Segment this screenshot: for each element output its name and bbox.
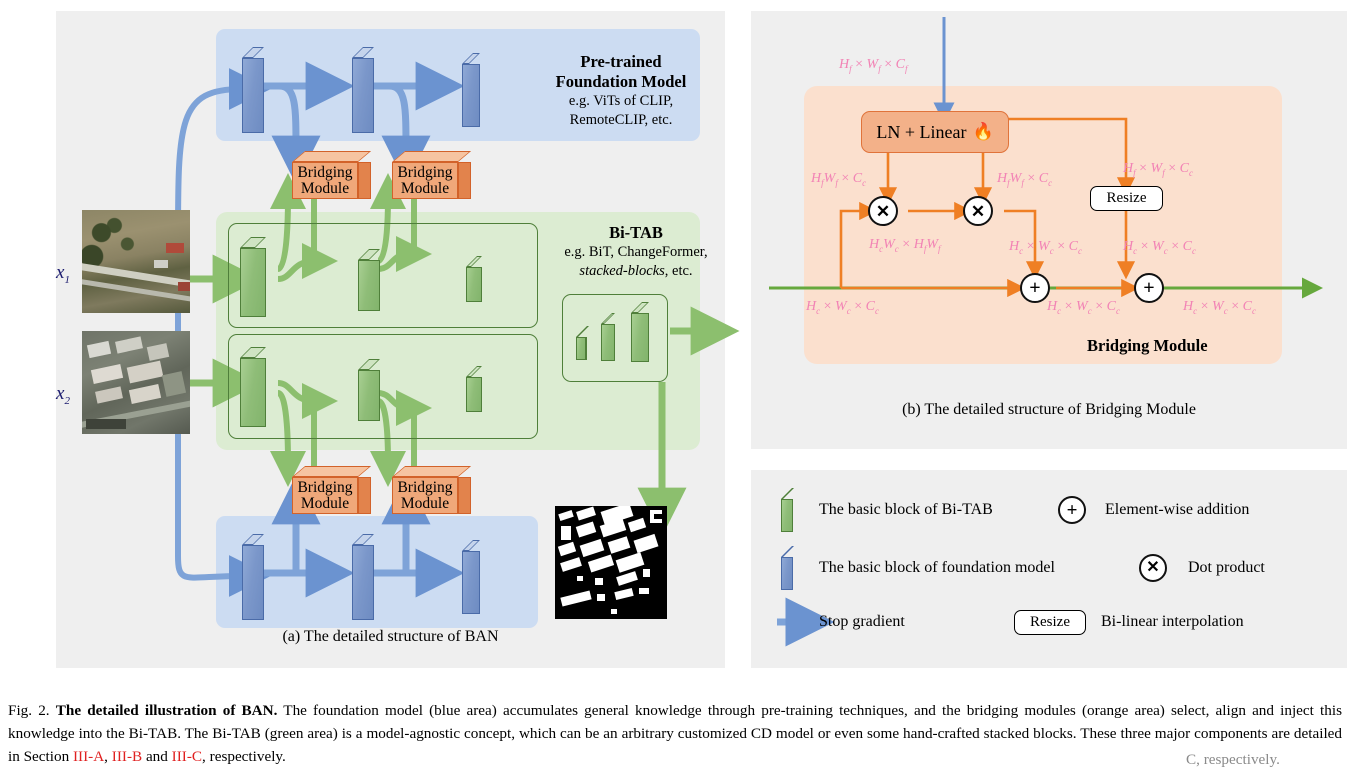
slab-top-face	[352, 534, 374, 545]
foundation-title-line2: Foundation Model	[536, 72, 706, 92]
bridging-module-top-right[interactable]: Bridging Module	[392, 151, 471, 199]
slab-front-face	[352, 58, 374, 133]
bridging-label-line1: Bridging	[397, 165, 452, 181]
ln-linear-block[interactable]: LN + Linear 🔥	[861, 111, 1009, 153]
box-top-face	[392, 151, 471, 162]
foundation-block-bottom-1	[242, 534, 264, 620]
ref-sep-2: and	[142, 748, 172, 765]
figure-caption: Fig. 2. The detailed illustration of BAN…	[8, 700, 1342, 768]
bitab-branch-top-outline	[228, 223, 538, 328]
bitab-block-top-3	[466, 256, 482, 302]
bitab-block-bottom-2	[358, 359, 380, 421]
resize-label: Resize	[1107, 190, 1147, 207]
bitab-branch-bottom-outline	[228, 334, 538, 439]
slab-front-face	[601, 324, 615, 361]
slab-front-face	[466, 377, 482, 412]
input-label-x1: x1	[56, 262, 70, 286]
shape-input-feature: Hf × Wf × Cf	[839, 57, 908, 74]
shape-attention-map: HcWc × HfWf	[869, 237, 941, 254]
panel-b-connectors	[751, 11, 1347, 449]
box-side-face	[358, 477, 371, 514]
resize-block[interactable]: Resize	[1090, 186, 1163, 211]
foundation-title-line1: Pre-trained	[536, 52, 706, 72]
fused-block-2	[601, 313, 615, 361]
caption-overlap-artifact: C, respectively.	[1186, 751, 1280, 769]
box-side-face	[458, 477, 471, 514]
foundation-block-top-1	[242, 47, 264, 133]
shape-add2-out: Hc × Wc × Cc	[1183, 299, 1256, 316]
input-x1-subscript: 1	[64, 274, 70, 286]
foundation-example-line2: RemoteCLIP, etc.	[536, 112, 706, 129]
slab-top-face	[240, 347, 266, 358]
input-image-x2-buildings	[82, 331, 190, 434]
slab-top-face	[242, 47, 264, 58]
panel-a-caption: (a) The detailed structure of BAN	[56, 628, 725, 646]
ln-linear-label: LN + Linear	[876, 122, 966, 143]
slab-front-face	[240, 248, 266, 317]
box-side-face	[358, 162, 371, 199]
bridging-label-line2: Module	[401, 181, 449, 197]
box-front-face: Bridging Module	[392, 477, 458, 514]
legend-label-bilinear-interpolation: Bi-linear interpolation	[1101, 613, 1244, 631]
slab-front-face	[242, 58, 264, 133]
slab-front-face	[352, 545, 374, 620]
slab-front-face	[576, 337, 586, 360]
slab-top-face	[631, 302, 649, 313]
plus-glyph: +	[1143, 278, 1154, 298]
figure-number: Fig. 2.	[8, 702, 50, 719]
bridging-label-line1: Bridging	[297, 165, 352, 181]
box-side-face	[458, 162, 471, 199]
bitab-title: Bi-TAB	[556, 223, 716, 243]
slab-top-face	[466, 366, 482, 377]
slab-front-face	[462, 551, 480, 614]
slab-front-face	[631, 313, 649, 362]
bridging-module-bottom-right[interactable]: Bridging Module	[392, 466, 471, 514]
slab-front-face	[358, 260, 380, 311]
slab-top-face	[601, 313, 615, 324]
figure-title: The detailed illustration of BAN.	[56, 702, 278, 719]
flame-icon: 🔥	[972, 122, 993, 142]
bridging-label-line1: Bridging	[397, 480, 452, 496]
section-ref-3a: III-A	[73, 748, 104, 765]
section-ref-3b: III-B	[112, 748, 142, 765]
shape-skip-to-resize: Hf × Wf × Cc	[1123, 161, 1193, 178]
bitab-example-line2: stacked-blocks, etc.	[546, 263, 726, 280]
slab-front-face	[242, 545, 264, 620]
fused-block-3	[631, 302, 649, 362]
box-front-face: Bridging Module	[392, 162, 458, 199]
shape-after-linear-mid: HfWf × Cc	[997, 171, 1052, 188]
slab-top-face	[358, 359, 380, 370]
slab-front-face	[462, 64, 480, 127]
panel-a-ban-structure: Pre-trained Foundation Model e.g. ViTs o…	[56, 11, 725, 668]
input-image-x1-road	[82, 210, 190, 313]
times-glyph: ✕	[971, 203, 985, 220]
legend-panel: The basic block of Bi-TAB + Element-wise…	[751, 470, 1347, 668]
dot-product-op-2: ✕	[963, 196, 993, 226]
bridging-label-line2: Module	[301, 496, 349, 512]
bridging-module-top-left[interactable]: Bridging Module	[292, 151, 371, 199]
foundation-example-line1: e.g. ViTs of CLIP,	[536, 93, 706, 110]
shape-green-input: Hc × Wc × Cc	[806, 299, 879, 316]
bridging-label-line2: Module	[301, 181, 349, 197]
bridging-module-title: Bridging Module	[1087, 336, 1208, 356]
bitab-block-bottom-1	[240, 347, 266, 427]
slab-front-face	[358, 370, 380, 421]
element-wise-add-op-2: +	[1134, 273, 1164, 303]
slab-top-face	[358, 249, 380, 260]
box-top-face	[292, 466, 371, 477]
resize-label: Resize	[1030, 614, 1070, 631]
slab-top-face	[352, 47, 374, 58]
dot-product-op-1: ✕	[868, 196, 898, 226]
plus-glyph: +	[1029, 278, 1040, 298]
shape-mul-out: Hc × Wc × Cc	[1009, 239, 1082, 256]
panel-b-bridging-module: LN + Linear 🔥 Resize ✕ ✕ + + Hf × Wf × C…	[751, 11, 1347, 449]
fused-block-1	[576, 326, 586, 360]
element-wise-add-op-1: +	[1020, 273, 1050, 303]
bitab-example-italic: stacked-blocks	[579, 263, 664, 279]
bridging-label-line1: Bridging	[297, 480, 352, 496]
resize-box-icon: Resize	[1014, 610, 1086, 635]
slab-top-face	[240, 237, 266, 248]
bridging-label-line2: Module	[401, 496, 449, 512]
legend-label-stop-gradient: Stop gradient	[819, 613, 905, 631]
slab-top-face	[462, 53, 480, 64]
bitab-block-bottom-3	[466, 366, 482, 412]
output-change-map	[555, 506, 667, 619]
slab-top-face	[462, 540, 480, 551]
shape-resize-out: Hc × Wc × Cc	[1123, 239, 1196, 256]
box-top-face	[392, 466, 471, 477]
bridging-module-bottom-left[interactable]: Bridging Module	[292, 466, 371, 514]
times-glyph: ✕	[876, 203, 890, 220]
shape-add1-out: Hc × Wc × Cc	[1047, 299, 1120, 316]
bitab-block-top-1	[240, 237, 266, 317]
legend-arrow-svg	[751, 470, 1347, 668]
slab-front-face	[466, 267, 482, 302]
caption-tail: , respectively.	[202, 748, 286, 765]
input-x2-subscript: 2	[64, 395, 70, 407]
foundation-block-top-2	[352, 47, 374, 133]
slab-top-face	[466, 256, 482, 267]
foundation-block-bottom-2	[352, 534, 374, 620]
ref-sep-1: ,	[104, 748, 112, 765]
input-label-x2: x2	[56, 383, 70, 407]
shape-after-linear-left: HfWf × Cc	[811, 171, 866, 188]
foundation-block-top-3	[462, 53, 480, 127]
panel-b-caption: (b) The detailed structure of Bridging M…	[751, 401, 1347, 419]
slab-front-face	[240, 358, 266, 427]
bitab-example-tail: , etc.	[665, 263, 693, 279]
slab-top-face	[242, 534, 264, 545]
bitab-block-top-2	[358, 249, 380, 311]
box-front-face: Bridging Module	[292, 162, 358, 199]
box-front-face: Bridging Module	[292, 477, 358, 514]
section-ref-3c: III-C	[172, 748, 202, 765]
box-top-face	[292, 151, 371, 162]
bitab-example-line1: e.g. BiT, ChangeFormer,	[546, 244, 726, 261]
foundation-block-bottom-3	[462, 540, 480, 614]
